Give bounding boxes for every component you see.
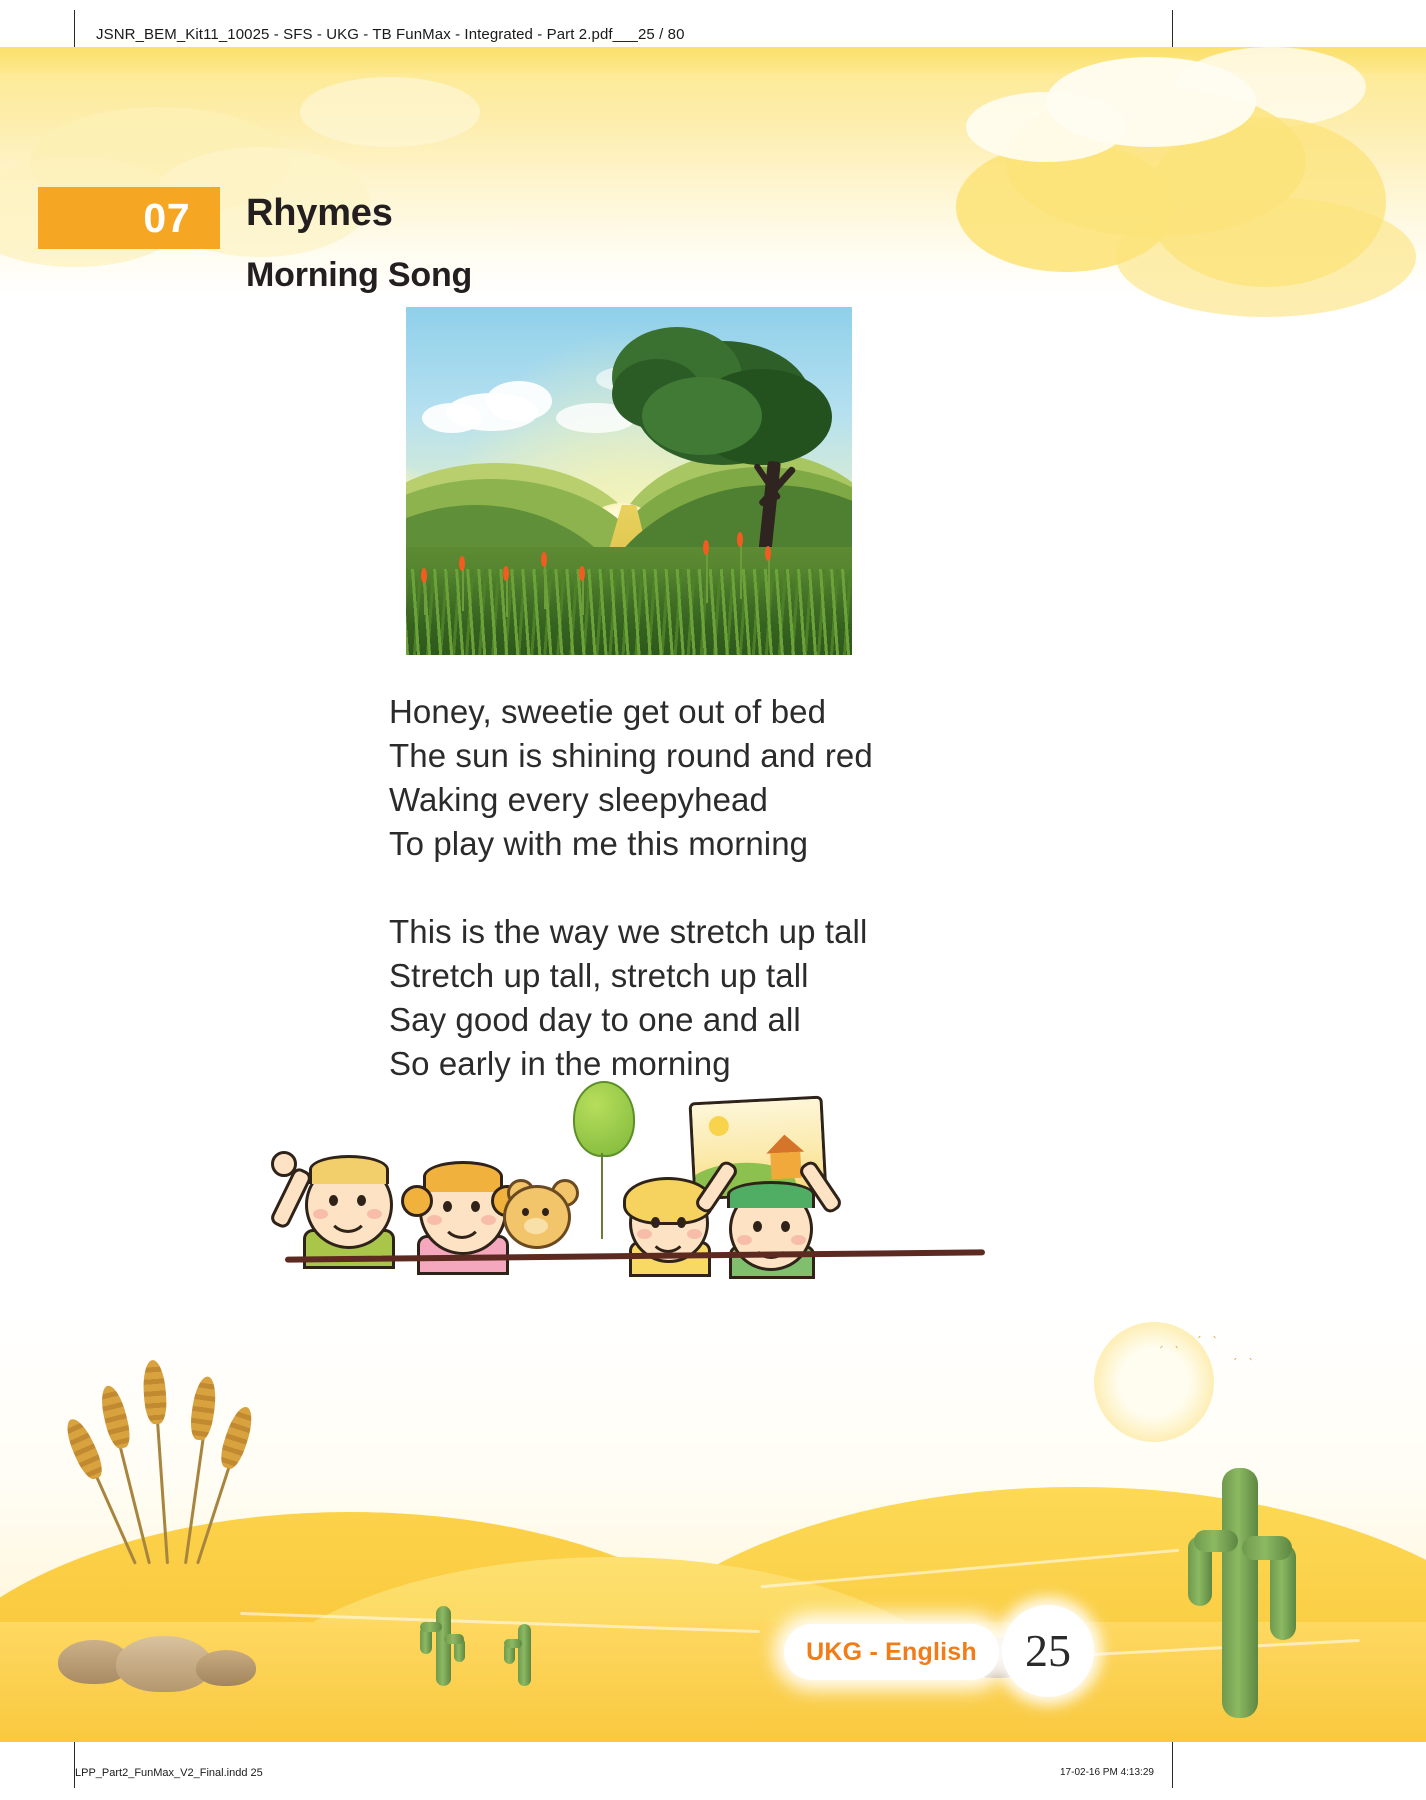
grass-foreground xyxy=(406,569,852,655)
teddy-bear xyxy=(503,1185,571,1249)
lyrics-line: Say good day to one and all xyxy=(389,998,1009,1042)
lyrics-line: Waking every sleepyhead xyxy=(389,778,1009,822)
wheat-head xyxy=(97,1383,134,1450)
reed-flower xyxy=(541,552,547,567)
child-hair xyxy=(423,1161,503,1192)
page-subtitle: Morning Song xyxy=(246,257,472,294)
top-banner xyxy=(0,47,1426,297)
bear-eye xyxy=(522,1208,529,1216)
cactus-body xyxy=(1222,1468,1258,1718)
poster-house-roof xyxy=(765,1134,804,1154)
children-illustration xyxy=(255,1077,1015,1277)
scene-cloud xyxy=(422,403,482,433)
cactus-arm xyxy=(504,1639,522,1648)
reed-flower xyxy=(459,556,465,571)
child-cheek xyxy=(481,1215,496,1225)
reed-stem xyxy=(768,557,770,605)
indd-filename-slug: LPP_Part2_FunMax_V2_Final.indd 25 xyxy=(75,1767,263,1779)
tree-canopy xyxy=(642,377,762,455)
child-cheek xyxy=(737,1235,752,1245)
stanza-gap xyxy=(389,866,1009,910)
wheat-head xyxy=(188,1375,219,1441)
reed-flower xyxy=(579,566,585,581)
reed-flower xyxy=(421,568,427,583)
reed-stem xyxy=(506,577,508,617)
poster-house xyxy=(770,1152,801,1180)
crop-mark-bottom-left xyxy=(74,1742,75,1788)
reed-stem xyxy=(424,579,426,615)
chapter-number: 07 xyxy=(143,198,190,239)
page-number: 25 xyxy=(1025,1628,1071,1674)
child-cheek xyxy=(313,1209,328,1219)
cactus-large xyxy=(1178,1468,1308,1718)
cloud-shape xyxy=(966,92,1126,162)
cactus-small xyxy=(502,1624,546,1686)
wheat-stem xyxy=(196,1457,233,1564)
child-cheek xyxy=(367,1209,382,1219)
reed-stem xyxy=(740,543,742,599)
timestamp-slug: 17-02-16 PM 4:13:29 xyxy=(1060,1767,1154,1778)
reed-flower xyxy=(737,532,743,547)
wheat-stem xyxy=(156,1414,169,1564)
rhyme-lyrics: Honey, sweetie get out of bed The sun is… xyxy=(389,690,1009,1086)
child-cheek xyxy=(791,1235,806,1245)
page-number-badge: 25 xyxy=(1002,1605,1094,1697)
wheat-stem xyxy=(117,1437,151,1564)
page-title: Rhymes xyxy=(246,193,393,235)
reed-stem xyxy=(544,563,546,609)
lyrics-stanza-2: This is the way we stretch up tall Stret… xyxy=(389,910,1009,1086)
desert-sun xyxy=(1094,1322,1214,1442)
sunrise-scene-illustration xyxy=(406,307,852,655)
cactus-arm xyxy=(420,1622,442,1632)
crop-mark-bottom-right xyxy=(1172,1742,1173,1788)
reed-stem xyxy=(582,577,584,615)
bear-snout xyxy=(524,1218,548,1234)
cactus-arm xyxy=(444,1634,464,1644)
cactus-arm xyxy=(1194,1530,1238,1552)
reed-stem xyxy=(706,551,708,603)
reed-stem xyxy=(462,567,464,611)
child-hair xyxy=(727,1181,815,1208)
cactus-body xyxy=(436,1606,451,1686)
chapter-number-badge: 07 xyxy=(38,187,220,249)
wheat-cluster xyxy=(88,1364,278,1564)
cactus-small xyxy=(418,1606,466,1686)
reed-flower xyxy=(703,540,709,555)
lyrics-line: The sun is shining round and red xyxy=(389,734,1009,778)
reed-flower xyxy=(765,546,771,561)
lyrics-stanza-1: Honey, sweetie get out of bed The sun is… xyxy=(389,690,1009,866)
lyrics-line: This is the way we stretch up tall xyxy=(389,910,1009,954)
scene-cloud xyxy=(486,381,552,421)
subject-badge-label: UKG - English xyxy=(806,1638,977,1667)
lyrics-line: To play with me this morning xyxy=(389,822,1009,866)
child-pigtail xyxy=(401,1185,433,1217)
wheat-head xyxy=(142,1359,168,1424)
reed-flower xyxy=(503,566,509,581)
page-canvas: 07 Rhymes Morning Song xyxy=(0,47,1426,1742)
rock-shape xyxy=(196,1650,256,1686)
cloud-shape xyxy=(1116,197,1416,317)
child-hand xyxy=(271,1151,297,1177)
subject-badge: UKG - English xyxy=(784,1624,999,1680)
child-cheek xyxy=(427,1215,442,1225)
cactus-body xyxy=(518,1624,531,1686)
pdf-slug-header: JSNR_BEM_Kit11_10025 - SFS - UKG - TB Fu… xyxy=(96,26,685,43)
child-hair xyxy=(309,1155,389,1184)
balloon-string xyxy=(601,1153,603,1239)
balloon-shape xyxy=(573,1081,635,1157)
cloud-shape xyxy=(300,77,480,147)
lyrics-line: Stretch up tall, stretch up tall xyxy=(389,954,1009,998)
lyrics-line: Honey, sweetie get out of bed xyxy=(389,690,1009,734)
cactus-arm xyxy=(1242,1536,1292,1560)
desert-illustration xyxy=(0,1312,1426,1742)
bear-eye xyxy=(542,1208,549,1216)
child-cheek xyxy=(687,1229,702,1239)
wheat-head xyxy=(217,1404,258,1472)
